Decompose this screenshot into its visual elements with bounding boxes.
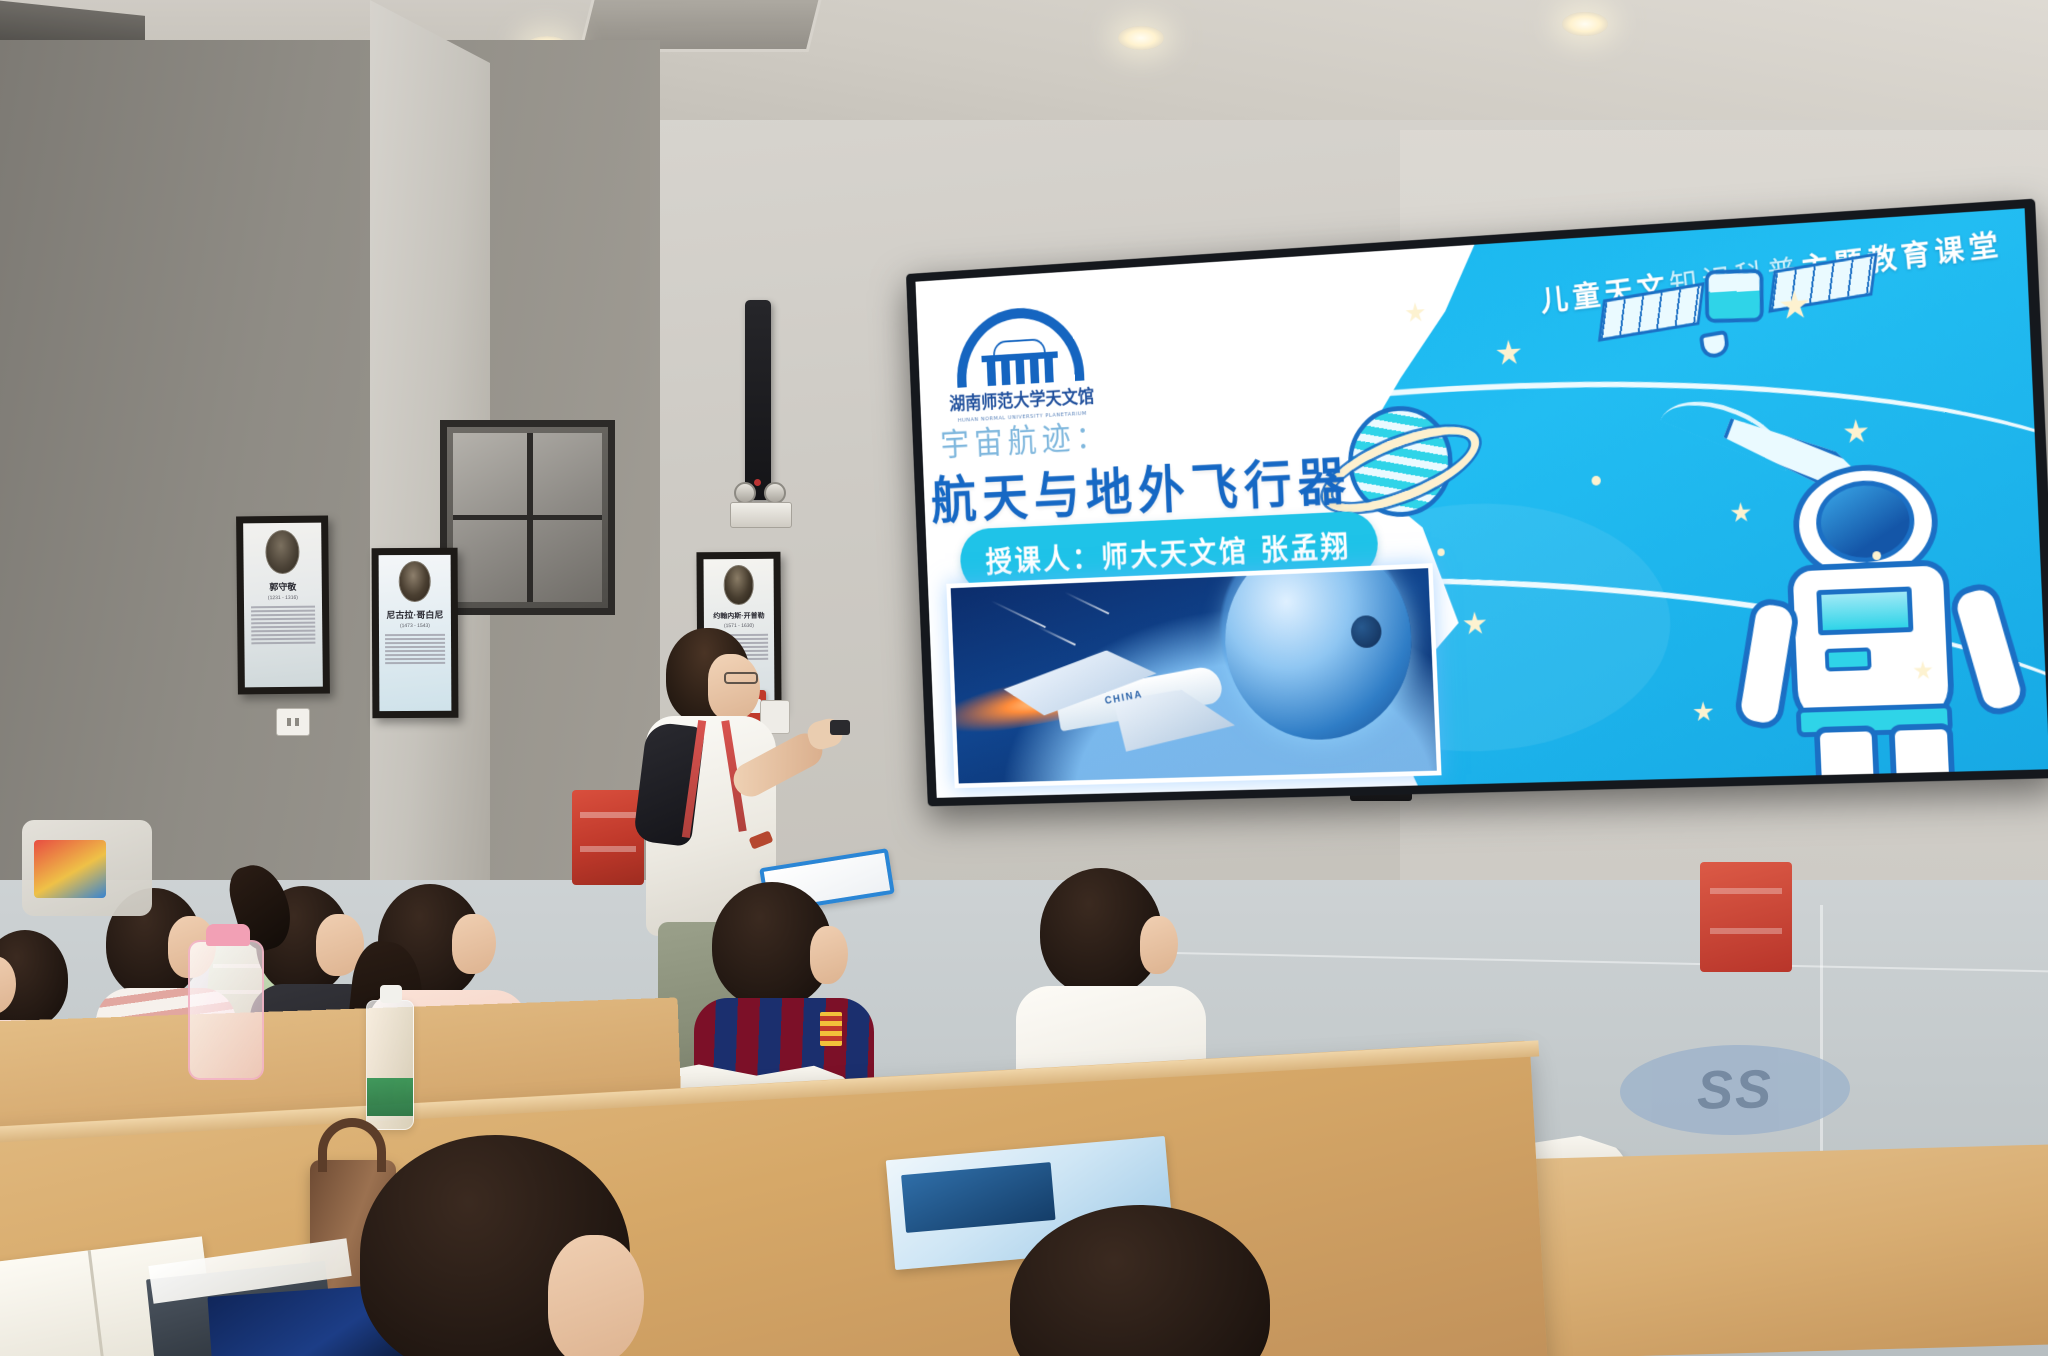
screen-bezel: 儿童天文知识科普主题教育课堂 [906, 199, 2048, 807]
downlight-5 [1562, 12, 1608, 36]
emergency-lamp-right [764, 482, 786, 504]
satellite-panel-left [1598, 282, 1705, 341]
bottle-cap [380, 985, 402, 1003]
astronaut-torso [1787, 559, 1956, 728]
portrait-name: 郭守敬 [269, 580, 296, 593]
astronaut-arm-left [1733, 596, 1801, 732]
bottle-cap [206, 924, 250, 946]
planetarium-logo: 湖南师范大学天文馆 HUNAN NORMAL UNIVERSITY PLANET… [942, 303, 1099, 424]
list-item [1010, 1205, 1290, 1356]
portrait-name: 尼古拉·哥白尼 [386, 608, 443, 621]
list-item [360, 1135, 660, 1356]
satellite-body [1705, 269, 1764, 323]
power-outlet-wall-left[interactable] [276, 708, 310, 736]
portrait-dates: (1473 - 1543) [400, 623, 430, 629]
frame-inner: 尼古拉·哥白尼 (1473 - 1543) [379, 555, 452, 711]
interior-window [440, 420, 615, 615]
bottle-label [367, 1078, 413, 1116]
logo-building [977, 337, 1062, 386]
portrait-frame-copernicus: 尼古拉·哥白尼 (1473 - 1543) [372, 548, 459, 718]
portrait-bio-lines [385, 634, 444, 664]
jersey-flag-patch [820, 1012, 842, 1046]
portrait-dates: (1231 - 1316) [268, 595, 298, 601]
astronaut-chest-panel [1817, 587, 1914, 636]
astronaut-icon [1723, 458, 2026, 794]
child-face [810, 926, 848, 984]
wall-speaker-bar [745, 300, 771, 500]
portrait-image [399, 561, 431, 602]
emergency-light [730, 482, 792, 528]
child-face [452, 914, 496, 974]
glasses-icon [724, 672, 758, 684]
portrait-image [723, 565, 754, 605]
presenter-face [708, 654, 760, 720]
portrait-image [265, 530, 300, 574]
kids-water-bottle[interactable] [188, 940, 264, 1080]
child-face [1140, 916, 1178, 974]
portrait-bio-lines [251, 606, 315, 645]
child-head [1010, 1205, 1270, 1356]
water-bottle[interactable] [366, 1000, 414, 1130]
classroom-scene: 郭守敬 (1231 - 1316) 尼古拉·哥白尼 (1473 - 1543) … [0, 0, 2048, 1356]
recycle-bin-right [1700, 862, 1792, 972]
window-mullion-h [453, 515, 602, 520]
presentation-clicker[interactable] [830, 720, 850, 735]
emergency-light-base [730, 502, 792, 528]
logo-dome-mark [954, 304, 1084, 388]
astronaut-control-button [1825, 647, 1872, 671]
emergency-lamp-left [734, 482, 756, 504]
logo-columns [987, 358, 1054, 386]
portrait-frame-guoshoujing: 郭守敬 (1231 - 1316) [236, 516, 330, 695]
frame-inner: 郭守敬 (1231 - 1316) [243, 523, 323, 688]
led-display-screen[interactable]: 儿童天文知识科普主题教育课堂 [906, 199, 2048, 807]
shuttle-photo-card: CHINA [946, 563, 1441, 788]
snack-package [34, 840, 106, 898]
downlight-4 [1118, 26, 1164, 50]
portrait-name: 约翰内斯·开普勒 [713, 611, 764, 621]
slide-surface: 儿童天文知识科普主题教育课堂 [915, 208, 2048, 798]
child-face [548, 1235, 644, 1356]
space-shuttle-graphic: CHINA [981, 652, 1251, 750]
satellite-dish [1699, 330, 1731, 360]
